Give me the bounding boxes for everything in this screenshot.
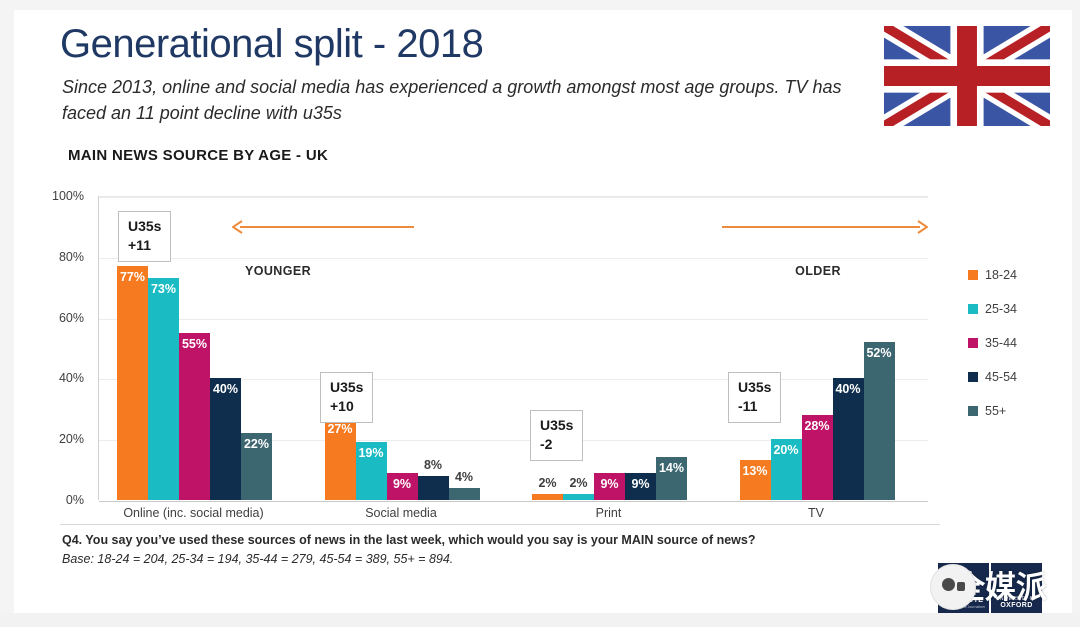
- chart-section-label: MAIN NEWS SOURCE BY AGE - UK: [68, 147, 328, 164]
- bar[interactable]: 4%: [449, 488, 480, 500]
- bar[interactable]: 19%: [356, 442, 387, 500]
- gridline: [99, 501, 928, 502]
- gridline: [99, 319, 928, 320]
- bottom-edge-strip: [0, 613, 1080, 627]
- footnote-base: Base: 18-24 = 204, 25-34 = 194, 35-44 = …: [62, 552, 453, 566]
- gridline: [99, 197, 928, 198]
- bar-value-label: 55%: [182, 337, 207, 351]
- younger-label: YOUNGER: [245, 264, 311, 278]
- bar[interactable]: 27%: [325, 418, 356, 500]
- logo-line-2: OXFORD: [1000, 602, 1032, 610]
- y-axis-tick-label: 100%: [52, 189, 84, 203]
- bar-value-label: 40%: [835, 382, 860, 396]
- older-arrow-icon: [722, 220, 928, 234]
- bar[interactable]: 13%: [740, 460, 771, 500]
- gridline: [99, 258, 928, 259]
- callout-title: U35s: [540, 416, 573, 435]
- bar[interactable]: 40%: [210, 378, 241, 500]
- bar-value-label: 52%: [866, 346, 891, 360]
- u35s-callout: U35s+10: [320, 372, 373, 423]
- callout-title: U35s: [738, 378, 771, 397]
- bar-value-label: 28%: [804, 419, 829, 433]
- bar[interactable]: 22%: [241, 433, 272, 500]
- x-axis-category-label: Online (inc. social media): [123, 506, 263, 520]
- bar[interactable]: 14%: [656, 457, 687, 500]
- bar[interactable]: 77%: [117, 266, 148, 500]
- x-axis-category-label: Social media: [365, 506, 437, 520]
- logo: REUTERSINSTITUTEfor the Study of Journal…: [938, 563, 989, 613]
- bar-value-label: 77%: [120, 270, 145, 284]
- bar[interactable]: 28%: [802, 415, 833, 500]
- bar[interactable]: 40%: [833, 378, 864, 500]
- chart-legend: 18-2425-3435-4445-5455+: [968, 258, 1068, 428]
- logo-line-2: INSTITUTE: [944, 597, 984, 605]
- u35s-callout: U35s-2: [530, 410, 583, 461]
- legend-swatch-icon: [968, 270, 978, 280]
- y-axis-labels: 0%20%40%60%80%100%: [0, 196, 92, 500]
- bar-value-label: 27%: [327, 422, 352, 436]
- callout-value: -11: [738, 397, 771, 416]
- bar[interactable]: 2%: [563, 494, 594, 500]
- y-axis-tick-label: 80%: [59, 250, 84, 264]
- institution-logos: REUTERSINSTITUTEfor the Study of Journal…: [938, 563, 1042, 613]
- bar-value-label: 13%: [742, 464, 767, 478]
- legend-item[interactable]: 55+: [968, 394, 1068, 428]
- bar[interactable]: 73%: [148, 278, 179, 500]
- callout-value: +10: [330, 397, 363, 416]
- bar-value-label: 73%: [151, 282, 176, 296]
- bar-value-label: 2%: [569, 476, 587, 490]
- bar-value-label: 9%: [631, 477, 649, 491]
- bar-value-label: 9%: [600, 477, 618, 491]
- legend-item[interactable]: 18-24: [968, 258, 1068, 292]
- older-label: OLDER: [795, 264, 841, 278]
- younger-arrow-icon: [232, 220, 414, 234]
- bar-value-label: 22%: [244, 437, 269, 451]
- top-edge-strip: [0, 0, 1080, 10]
- y-axis-tick-label: 20%: [59, 432, 84, 446]
- legend-swatch-icon: [968, 372, 978, 382]
- u35s-callout: U35s+11: [118, 211, 171, 262]
- u35s-callout: U35s-11: [728, 372, 781, 423]
- bar[interactable]: 9%: [594, 473, 625, 500]
- legend-label: 18-24: [985, 268, 1017, 282]
- legend-label: 25-34: [985, 302, 1017, 316]
- bar-value-label: 20%: [773, 443, 798, 457]
- bar[interactable]: 9%: [387, 473, 418, 500]
- slide: Generational split - 2018 Since 2013, on…: [0, 0, 1080, 627]
- page-subtitle: Since 2013, online and social media has …: [62, 74, 852, 126]
- legend-swatch-icon: [968, 304, 978, 314]
- legend-item[interactable]: 35-44: [968, 326, 1068, 360]
- bar[interactable]: 52%: [864, 342, 895, 500]
- bar-value-label: 40%: [213, 382, 238, 396]
- plot-area: 77%73%55%40%22%27%19%9%8%4%2%2%9%9%14%13…: [98, 196, 928, 500]
- callout-value: -2: [540, 435, 573, 454]
- bar-value-label: 8%: [424, 458, 442, 472]
- callout-value: +11: [128, 236, 161, 255]
- x-axis-category-label: Print: [596, 506, 622, 520]
- bar-value-label: 2%: [538, 476, 556, 490]
- page-title: Generational split - 2018: [60, 22, 483, 67]
- y-axis-tick-label: 40%: [59, 371, 84, 385]
- bar-value-label: 9%: [393, 477, 411, 491]
- bar[interactable]: 55%: [179, 333, 210, 500]
- chart-container: 0%20%40%60%80%100% 77%73%55%40%22%27%19%…: [0, 186, 1080, 526]
- logo-line-3: for the Study of Journalism: [942, 605, 985, 610]
- footer-divider: [60, 524, 940, 525]
- bar-value-label: 4%: [455, 470, 473, 484]
- footnote-question: Q4. You say you’ve used these sources of…: [62, 533, 755, 547]
- legend-label: 35-44: [985, 336, 1017, 350]
- legend-swatch-icon: [968, 406, 978, 416]
- bar-value-label: 19%: [358, 446, 383, 460]
- y-axis-tick-label: 60%: [59, 311, 84, 325]
- bar-value-label: 14%: [659, 461, 684, 475]
- legend-swatch-icon: [968, 338, 978, 348]
- bar[interactable]: 8%: [418, 476, 449, 500]
- bar[interactable]: 9%: [625, 473, 656, 500]
- callout-title: U35s: [330, 378, 363, 397]
- legend-item[interactable]: 25-34: [968, 292, 1068, 326]
- legend-label: 55+: [985, 404, 1006, 418]
- bar[interactable]: 20%: [771, 439, 802, 500]
- x-axis-category-label: TV: [808, 506, 824, 520]
- legend-label: 45-54: [985, 370, 1017, 384]
- bar[interactable]: 2%: [532, 494, 563, 500]
- callout-title: U35s: [128, 217, 161, 236]
- legend-item[interactable]: 45-54: [968, 360, 1068, 394]
- y-axis-tick-label: 0%: [66, 493, 84, 507]
- uk-flag-icon: [884, 26, 1050, 126]
- logo: UNIVERSITY OFOXFORD: [991, 563, 1042, 613]
